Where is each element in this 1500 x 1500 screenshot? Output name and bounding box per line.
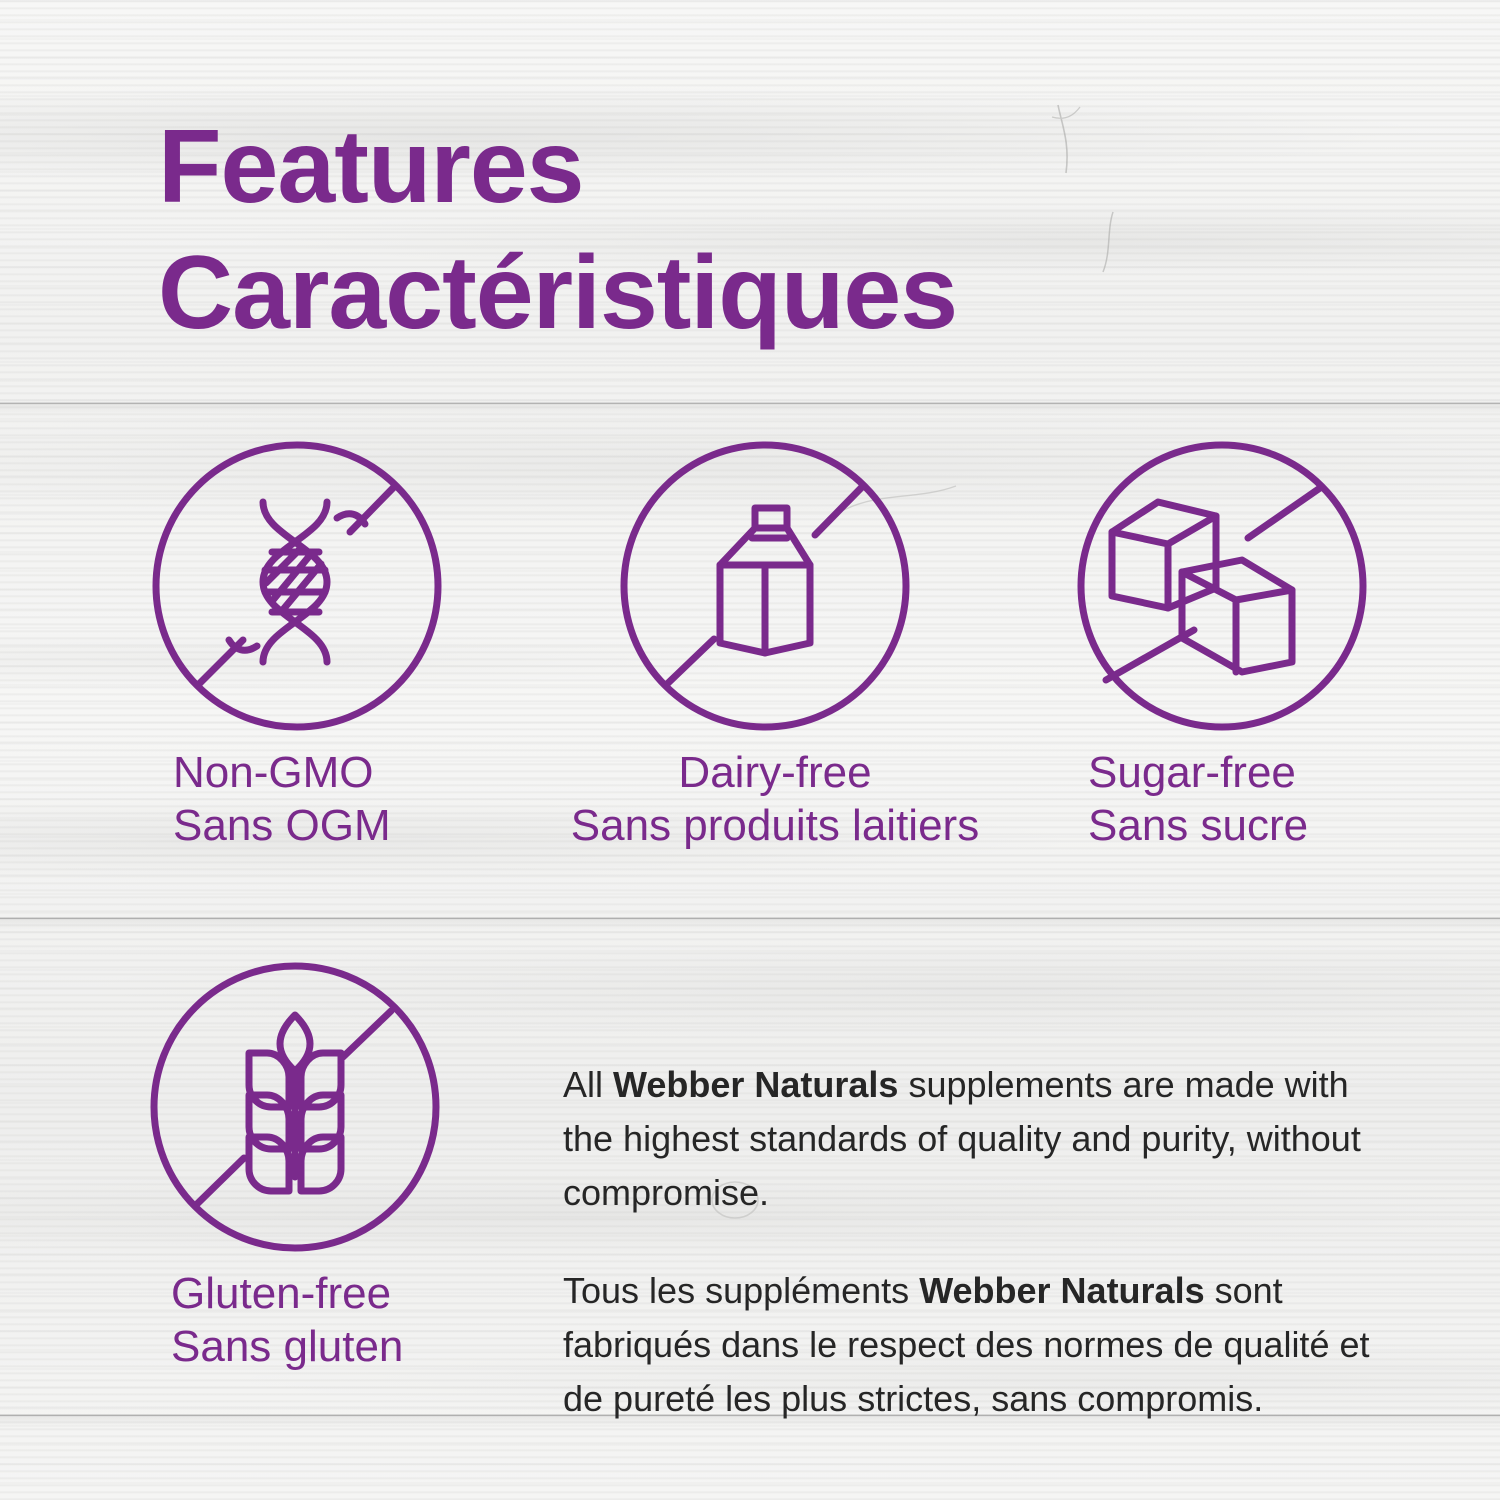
feature-label-fr: Sans OGM (173, 799, 443, 852)
no-dna-icon (151, 440, 443, 732)
title-line-fr: Caractéristiques (158, 230, 1158, 356)
plank-seam (0, 917, 1500, 920)
plank-seam-shadow (0, 920, 1500, 930)
no-sugar-cubes-icon (1076, 440, 1368, 732)
copy-fr-before: Tous les suppléments (563, 1270, 919, 1311)
feature-label: Dairy-free Sans produits laitiers (526, 746, 1010, 852)
feature-label-en: Sugar-free (1088, 746, 1368, 799)
page-title: Features Caractéristiques (158, 104, 1158, 356)
feature-dairy-free: Dairy-free Sans produits laitiers (619, 440, 1010, 852)
plank-seam-shadow (0, 405, 1500, 415)
feature-label-fr: Sans sucre (1088, 799, 1368, 852)
feature-label: Gluten-free Sans gluten (149, 1267, 441, 1373)
feature-label: Sugar-free Sans sucre (1076, 746, 1368, 852)
feature-label-fr: Sans produits laitiers (540, 799, 1010, 852)
copy-en-before: All (563, 1064, 613, 1105)
no-wheat-icon (149, 961, 441, 1253)
plank-seam (0, 402, 1500, 405)
copy-paragraph-fr: Tous les suppléments Webber Naturals son… (563, 1264, 1373, 1426)
brand-name-en: Webber Naturals (613, 1064, 898, 1105)
no-milk-carton-icon (619, 440, 911, 732)
feature-label: Non-GMO Sans OGM (151, 746, 443, 852)
feature-non-gmo: Non-GMO Sans OGM (151, 440, 443, 852)
feature-gluten-free: Gluten-free Sans gluten (149, 961, 441, 1373)
brand-name-fr: Webber Naturals (919, 1270, 1204, 1311)
feature-label-en: Non-GMO (173, 746, 443, 799)
brand-copy: All Webber Naturals supplements are made… (563, 1022, 1373, 1462)
feature-label-en: Dairy-free (540, 746, 1010, 799)
feature-sugar-free: Sugar-free Sans sucre (1076, 440, 1368, 852)
copy-paragraph-en: All Webber Naturals supplements are made… (563, 1058, 1373, 1220)
feature-label-en: Gluten-free (171, 1267, 441, 1320)
feature-label-fr: Sans gluten (171, 1320, 441, 1373)
feature-infographic: Features Caractéristiques (0, 0, 1500, 1500)
title-line-en: Features (158, 104, 1158, 230)
